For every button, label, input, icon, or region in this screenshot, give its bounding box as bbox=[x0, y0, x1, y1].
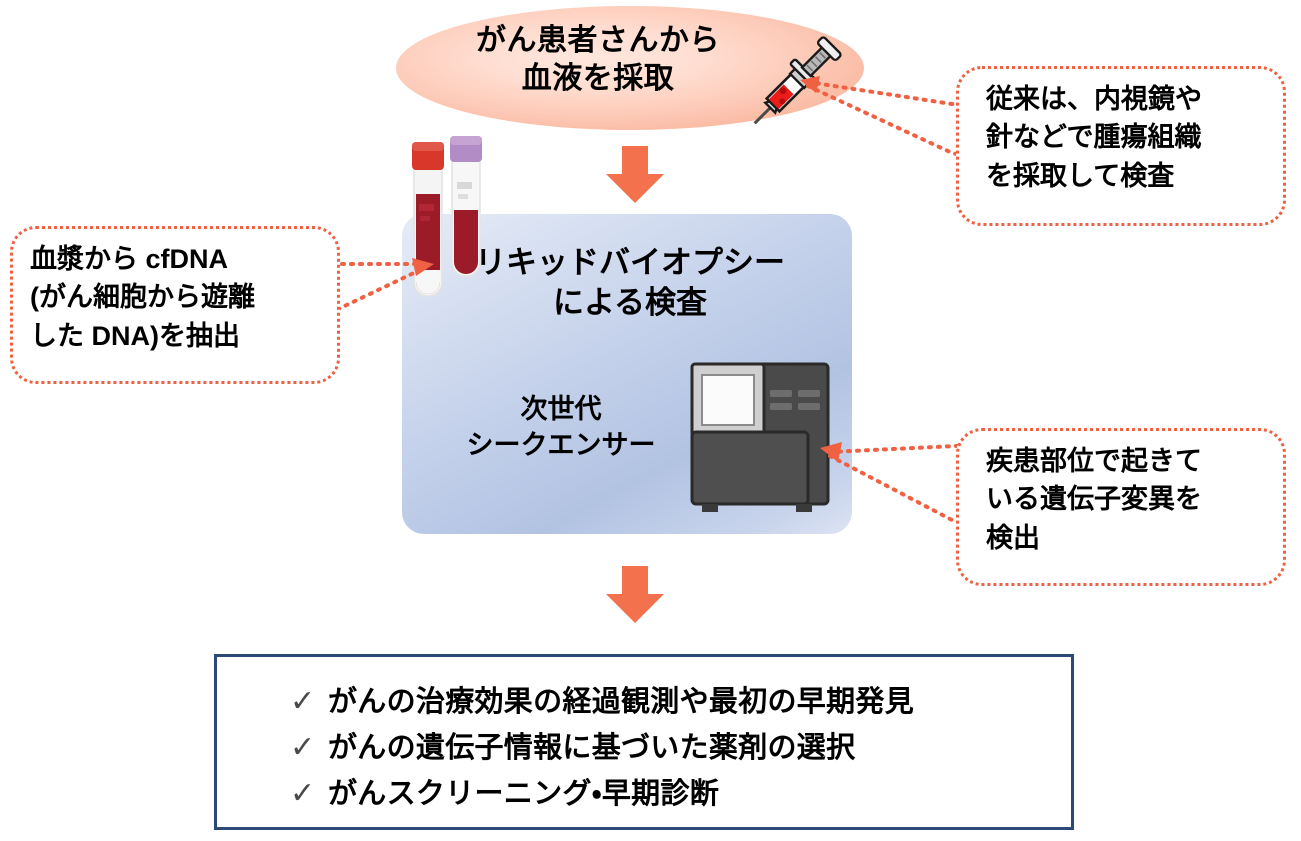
outcome-label: がんの遺伝子情報に基づいた薬剤の選択 bbox=[328, 729, 855, 768]
callout-gene-mutation-text: 疾患部位で起きて いる遺伝子変異を 検出 bbox=[986, 442, 1286, 557]
callout-cfdna-extraction-text: 血漿から cfDNA (がん細胞から遊離 した DNA)を抽出 bbox=[30, 240, 340, 355]
down-arrow-icon-bottom bbox=[604, 566, 666, 624]
blood-collection-tubes-icon bbox=[398, 134, 512, 306]
outcome-label: がんスクリーニング・早期診断 bbox=[328, 775, 719, 814]
list-item: ✓ がんの遺伝子情報に基づいた薬剤の選択 bbox=[290, 728, 1060, 769]
outcomes-list: ✓ がんの治療効果の経過観測や最初の早期発見 ✓ がんの遺伝子情報に基づいた薬剤… bbox=[290, 682, 1060, 819]
list-item: ✓ がんの治療効果の経過観測や最初の早期発見 bbox=[290, 682, 1060, 723]
list-item: ✓ がんスクリーニング・早期診断 bbox=[290, 774, 1060, 815]
blood-draw-label: がん患者さんから 血液を採取 bbox=[408, 22, 788, 98]
liquid-biopsy-subtitle: 次世代 シークエンサー bbox=[416, 392, 706, 463]
check-icon: ✓ bbox=[290, 728, 328, 769]
diagram-canvas: がん患者さんから 血液を採取 bbox=[0, 0, 1301, 841]
next-generation-sequencer-icon bbox=[684, 358, 836, 520]
down-arrow-icon-top bbox=[604, 146, 666, 204]
check-icon: ✓ bbox=[290, 774, 328, 815]
check-icon: ✓ bbox=[290, 682, 328, 723]
callout-conventional-method-text: 従来は、内視鏡や 針などで腫瘍組織 を採取して検査 bbox=[986, 80, 1286, 195]
syringe-icon bbox=[742, 22, 848, 144]
outcome-label: がんの治療効果の経過観測や最初の早期発見 bbox=[328, 683, 914, 722]
